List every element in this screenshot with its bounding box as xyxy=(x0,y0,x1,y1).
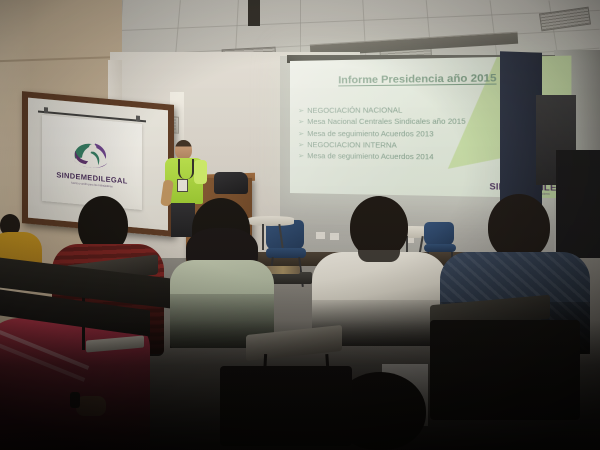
slide-bullet-item: ➢ Mesa de seguimiento Acuerdos 2013 xyxy=(298,128,466,140)
conference-room-photo: SINDEMEDILEGAL fuerza y unión para los t… xyxy=(0,0,600,450)
tablet-arm-chair-center[interactable] xyxy=(228,330,348,440)
chair-back xyxy=(430,320,580,420)
bullet-marker-icon: ➢ xyxy=(298,128,304,139)
bag-on-table xyxy=(214,172,248,194)
attendee-collar xyxy=(358,250,400,262)
slide-bullet-item: ➢ Mesa de seguimiento Acuerdos 2014 xyxy=(298,150,466,163)
slide-bullet-list: ➢ NEGOCIACIÓN NACIONAL ➢ Mesa Nacional C… xyxy=(298,104,466,163)
presenter-head xyxy=(175,140,192,160)
slide-bullet-text: Mesa Nacional Centrales Sindicales año 2… xyxy=(307,116,466,128)
presenter-sleeve xyxy=(194,160,207,184)
bullet-marker-icon: ➢ xyxy=(298,150,304,161)
slide-bullet-text: NEGOCIACIÓN NACIONAL xyxy=(307,104,402,116)
bullet-marker-icon: ➢ xyxy=(298,139,304,150)
presenter-id-badge xyxy=(177,179,188,192)
banner-hook-right xyxy=(136,115,140,121)
attendee-head xyxy=(350,196,408,258)
slide-bullet-text: Mesa de seguimiento Acuerdos 2014 xyxy=(307,150,433,163)
slide-bullet-item: ➢ Mesa Nacional Centrales Sindicales año… xyxy=(298,116,466,128)
slide-bullet-item: ➢ NEGOCIACIÓN NACIONAL xyxy=(298,104,466,116)
sindemedilegal-logo-icon xyxy=(69,136,115,174)
slide-bullet-text: Mesa de seguimiento Acuerdos 2013 xyxy=(307,128,433,140)
attendee-sage-blouse xyxy=(166,198,278,348)
banner-hook-left xyxy=(44,107,48,113)
slide-bullet-text: NEGOCIACION INTERNA xyxy=(307,139,397,151)
chair-back xyxy=(220,366,352,446)
bullet-marker-icon: ➢ xyxy=(298,105,304,116)
presenter-lanyard xyxy=(178,159,194,179)
attendee-head xyxy=(488,194,550,260)
slide-title: Informe Presidencia año 2015 xyxy=(338,72,496,87)
bullet-marker-icon: ➢ xyxy=(298,116,304,127)
attendee-white-shirt xyxy=(308,196,448,346)
attendee-hand xyxy=(76,396,106,416)
wall-mounted-speaker xyxy=(248,0,260,26)
tablet-arm-chair-right[interactable] xyxy=(430,300,580,420)
wrist-band xyxy=(70,392,80,408)
